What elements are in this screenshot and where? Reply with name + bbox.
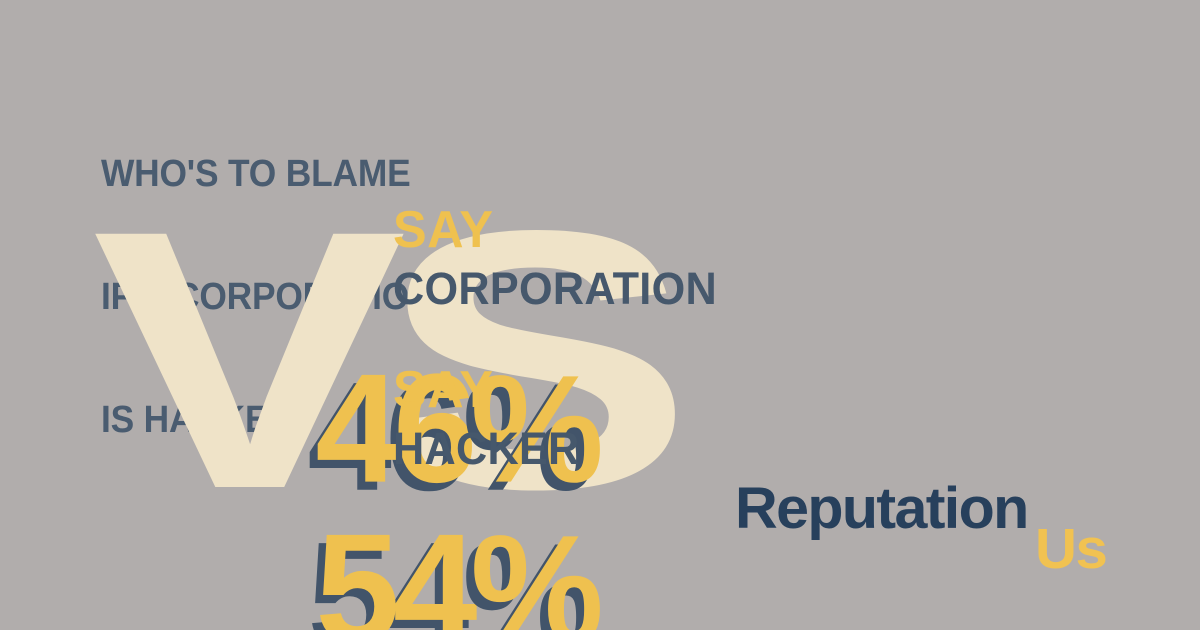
logo-primary-text: Reputation xyxy=(735,480,1028,538)
stat-subject: CORPORATION xyxy=(393,266,717,312)
brand-logo: Reputation Us xyxy=(735,480,1155,590)
stat-label-group: SAY HACKER xyxy=(393,364,587,472)
percent-sign-icon: % xyxy=(470,503,593,630)
stat-number: 54 xyxy=(315,502,470,630)
logo-secondary-text: Us xyxy=(1035,521,1106,578)
stat-verb: SAY xyxy=(393,204,720,256)
infographic-canvas: WHO'S TO BLAME IF A CORPORATION IS HACKE… xyxy=(0,0,1200,630)
stat-label-group: SAY CORPORATION xyxy=(393,204,730,312)
stat-verb: SAY xyxy=(393,364,581,416)
stat-subject: HACKER xyxy=(393,426,580,472)
